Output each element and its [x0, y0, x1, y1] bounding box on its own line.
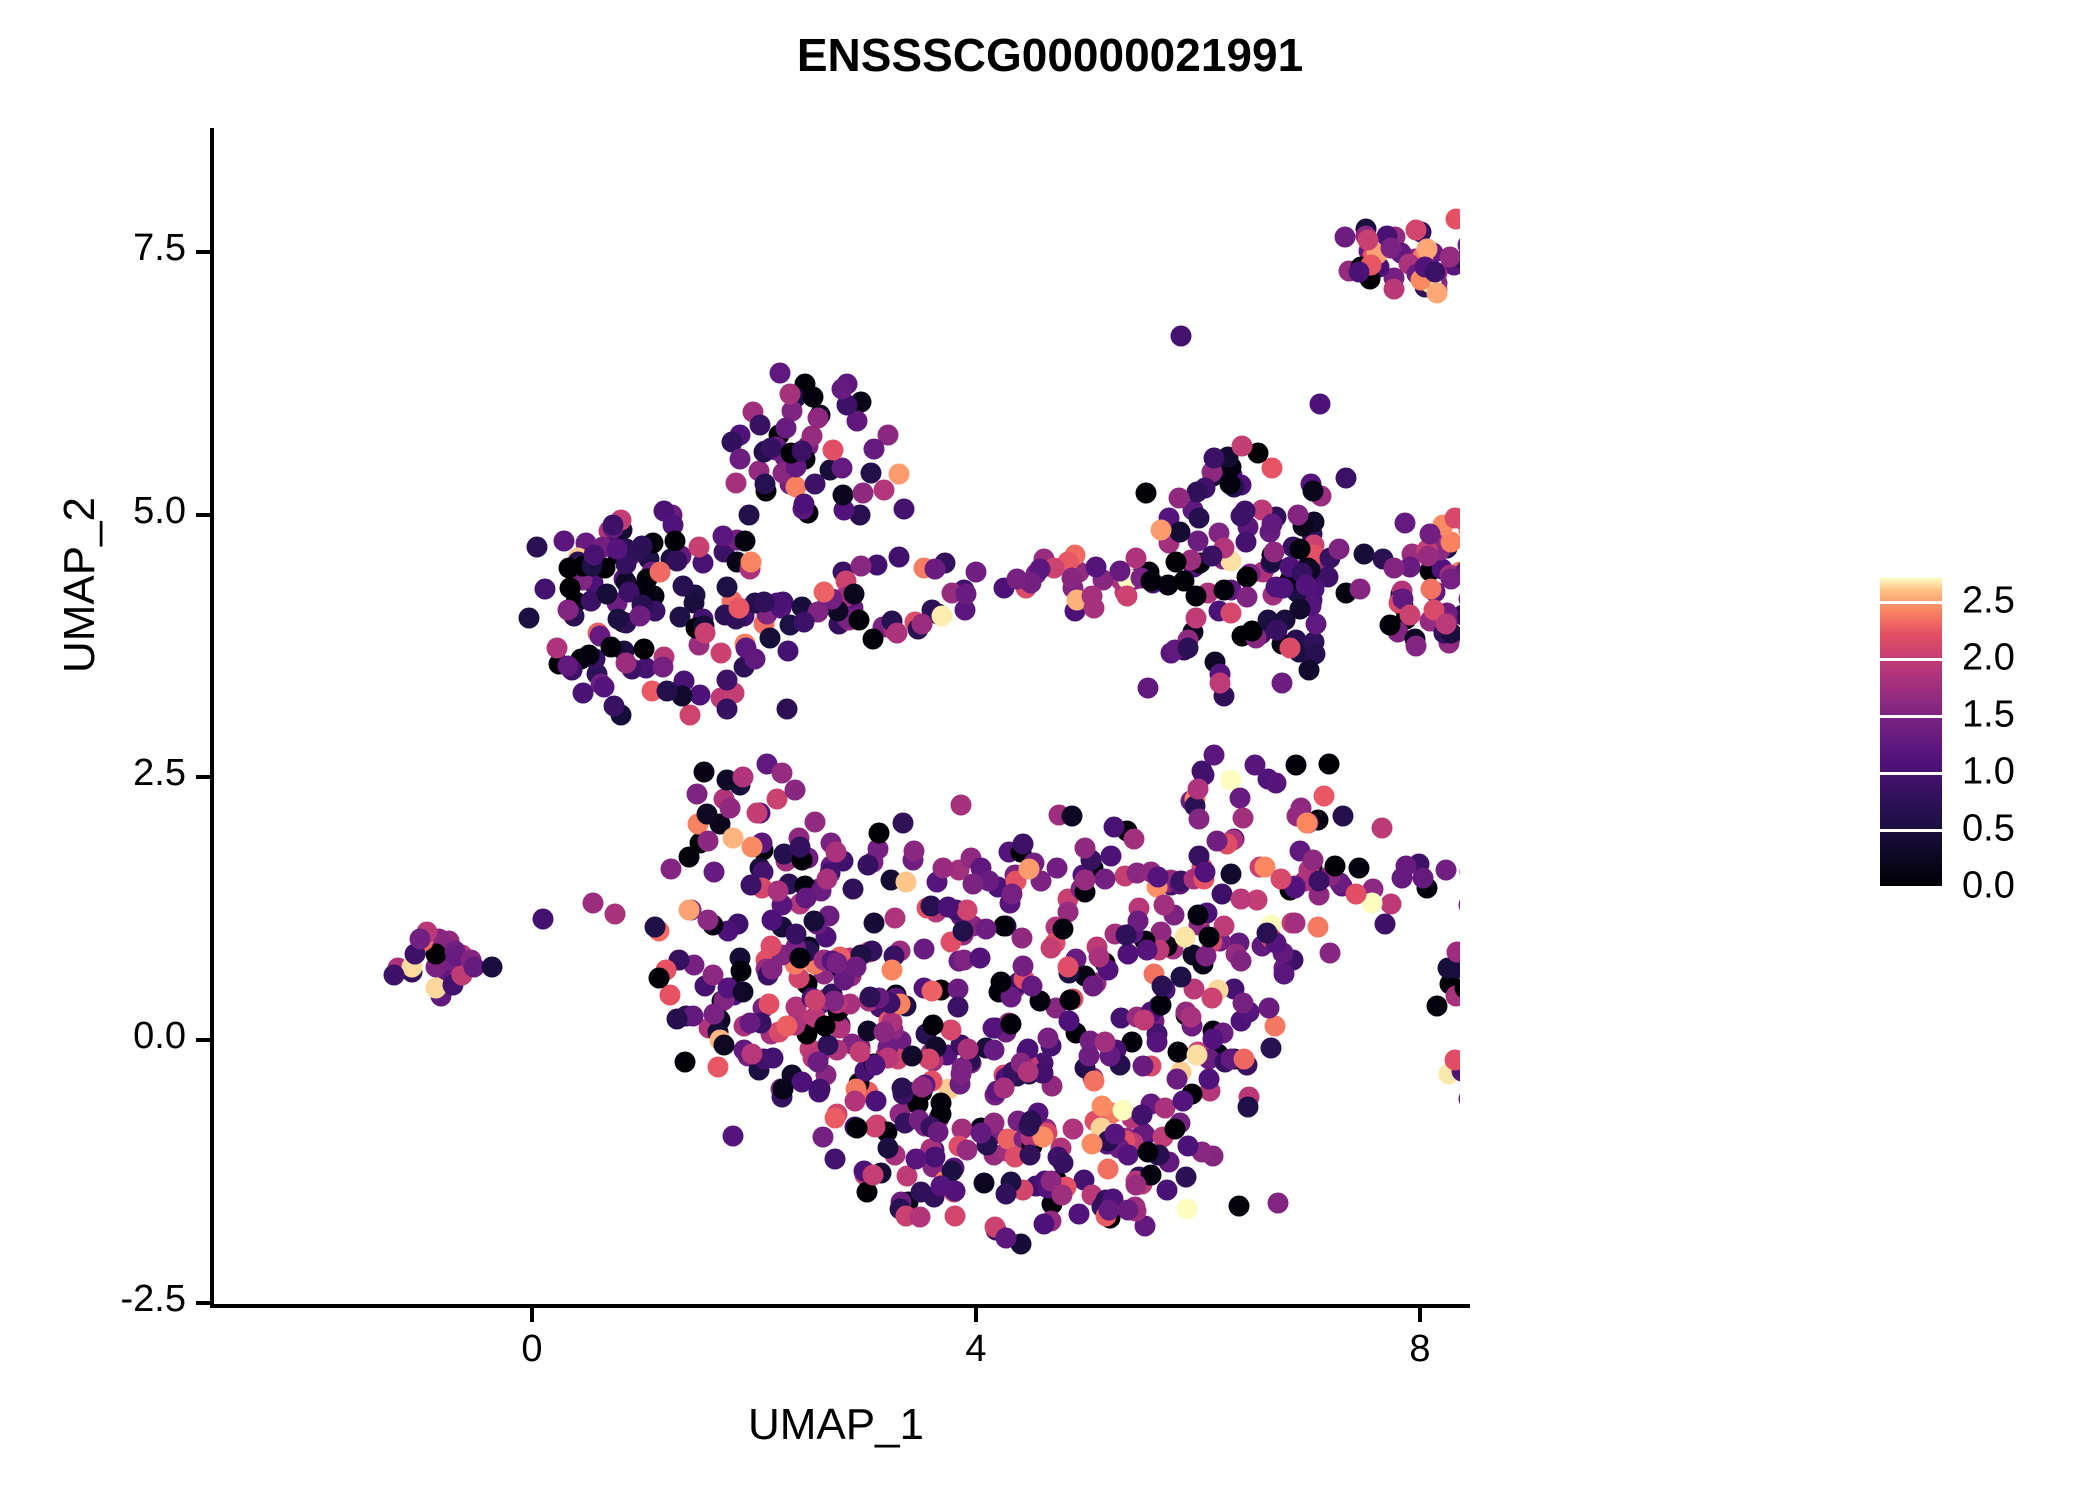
- x-axis-title: UMAP_1: [212, 1400, 1460, 1450]
- scatter-point: [853, 482, 874, 503]
- y-tick-mark: [196, 1301, 210, 1305]
- scatter-point: [1175, 927, 1196, 948]
- scatter-point: [882, 959, 903, 980]
- scatter-point: [1210, 672, 1231, 693]
- scatter-point: [891, 1077, 912, 1098]
- scatter-point: [931, 1175, 952, 1196]
- scatter-point: [1237, 586, 1258, 607]
- scatter-point: [1169, 522, 1190, 543]
- scatter-point: [1022, 976, 1043, 997]
- scatter-point: [1287, 504, 1308, 525]
- scatter-point: [1384, 278, 1405, 299]
- scatter-point: [583, 893, 604, 914]
- scatter-point: [1445, 208, 1460, 229]
- scatter-point: [1085, 556, 1106, 577]
- scatter-point: [848, 609, 869, 630]
- scatter-point: [1290, 598, 1311, 619]
- scatter-point: [660, 859, 681, 880]
- scatter-point: [572, 682, 593, 703]
- scatter-point: [796, 887, 817, 908]
- y-tick-label: 7.5: [26, 227, 186, 270]
- scatter-point: [861, 462, 882, 483]
- scatter-point: [1150, 519, 1171, 540]
- scatter-point: [698, 830, 719, 851]
- legend-tick-mark: [1880, 886, 1942, 889]
- scatter-point: [605, 903, 626, 924]
- scatter-point: [650, 562, 671, 583]
- scatter-point: [1394, 513, 1415, 534]
- scatter-point: [1279, 637, 1300, 658]
- scatter-point: [1302, 849, 1323, 870]
- scatter-point: [845, 1090, 866, 1111]
- legend-tick-label: 1.0: [1962, 750, 2015, 793]
- scatter-point: [1236, 531, 1257, 552]
- scatter-point: [1400, 605, 1421, 626]
- scatter-point: [863, 1165, 884, 1186]
- scatter-point: [1233, 807, 1254, 828]
- scatter-point: [1284, 912, 1305, 933]
- scatter-point: [1380, 893, 1401, 914]
- scatter-point: [579, 645, 600, 666]
- scatter-point: [962, 874, 983, 895]
- scatter-point: [1168, 488, 1189, 509]
- scatter-point: [594, 676, 615, 697]
- scatter-point: [1303, 480, 1324, 501]
- scatter-point: [1198, 927, 1219, 948]
- scatter-point: [1060, 989, 1081, 1010]
- scatter-point: [1328, 538, 1349, 559]
- scatter-point: [896, 871, 917, 892]
- plot-panel: [212, 130, 1460, 1306]
- scatter-point: [1094, 1031, 1115, 1052]
- scatter-point: [608, 609, 629, 630]
- scatter-point: [1266, 773, 1287, 794]
- scatter-point: [1178, 1135, 1199, 1156]
- scatter-point: [409, 928, 430, 949]
- scatter-point: [1245, 754, 1266, 775]
- scatter-point: [957, 1139, 978, 1160]
- scatter-point: [644, 916, 665, 937]
- scatter-point: [695, 623, 716, 644]
- scatter-point: [703, 1004, 724, 1025]
- scatter-point: [1098, 1199, 1119, 1220]
- scatter-point: [1445, 1050, 1460, 1071]
- scatter-point: [674, 1052, 695, 1073]
- scatter-point: [846, 956, 867, 977]
- scatter-point: [1017, 1061, 1038, 1082]
- scatter-point: [1189, 508, 1210, 529]
- scatter-point: [1195, 861, 1216, 882]
- scatter-point: [816, 869, 837, 890]
- scatter-point: [925, 559, 946, 580]
- scatter-point: [1116, 925, 1137, 946]
- scatter-point: [864, 913, 885, 934]
- scatter-point: [1199, 1069, 1220, 1090]
- scatter-point: [951, 1064, 972, 1085]
- scatter-point: [735, 531, 756, 552]
- scatter-point: [1381, 237, 1402, 258]
- scatter-point: [824, 990, 845, 1011]
- scatter-point: [888, 464, 909, 485]
- scatter-point: [807, 1051, 828, 1072]
- scatter-point: [1260, 1038, 1281, 1059]
- legend-tick-label: 0.0: [1962, 865, 2015, 908]
- scatter-point: [383, 965, 404, 986]
- scatter-point: [1333, 806, 1354, 827]
- legend-tick-mark: [1880, 658, 1942, 661]
- scatter-point: [833, 484, 854, 505]
- scatter-point: [723, 827, 744, 848]
- scatter-point: [732, 982, 753, 1003]
- scatter-point: [534, 579, 555, 600]
- scatter-point: [1171, 326, 1192, 347]
- scatter-point: [1229, 1195, 1250, 1216]
- scatter-point: [1233, 1049, 1254, 1070]
- scatter-point: [1001, 883, 1022, 904]
- scatter-point: [1285, 755, 1306, 776]
- scatter-point: [630, 605, 651, 626]
- scatter-point: [863, 439, 884, 460]
- y-axis-title: UMAP_2: [55, 185, 105, 985]
- scatter-point: [716, 699, 737, 720]
- scatter-point: [717, 576, 738, 597]
- scatter-point: [1221, 864, 1242, 885]
- scatter-point: [886, 623, 907, 644]
- scatter-point: [825, 842, 846, 863]
- scatter-point: [1445, 507, 1460, 528]
- scatter-point: [1233, 993, 1254, 1014]
- scatter-point: [1186, 607, 1207, 628]
- scatter-point: [1176, 1199, 1197, 1220]
- scatter-point: [1379, 614, 1400, 635]
- scatter-point: [995, 1227, 1016, 1248]
- scatter-point: [1232, 435, 1253, 456]
- legend-colorbar: [1880, 578, 1942, 886]
- scatter-point: [1349, 262, 1370, 283]
- scatter-point: [1264, 1015, 1285, 1036]
- scatter-point: [805, 473, 826, 494]
- scatter-point: [1298, 659, 1319, 680]
- scatter-point: [832, 378, 853, 399]
- scatter-point: [615, 653, 636, 674]
- scatter-point: [866, 1090, 887, 1111]
- scatter-point: [1357, 230, 1378, 251]
- scatter-point: [1207, 831, 1228, 852]
- scatter-point: [1033, 1214, 1054, 1235]
- scatter-point: [1383, 557, 1404, 578]
- scatter-point: [1195, 946, 1216, 967]
- x-tick-label: 8: [1360, 1328, 1480, 1371]
- scatter-point: [1104, 816, 1125, 837]
- scatter-point: [740, 1012, 761, 1033]
- scatter-point: [1262, 513, 1283, 534]
- scatter-point: [1290, 539, 1311, 560]
- scatter-point: [843, 879, 864, 900]
- scatter-point: [698, 909, 719, 930]
- scatter-point: [1057, 957, 1078, 978]
- scatter-point: [1447, 941, 1461, 962]
- scatter-point: [815, 1016, 836, 1037]
- scatter-point: [874, 1021, 895, 1042]
- scatter-point: [1256, 922, 1277, 943]
- scatter-point: [995, 1183, 1016, 1204]
- scatter-point: [1307, 916, 1328, 937]
- scatter-point: [927, 1121, 948, 1142]
- scatter-point: [863, 628, 884, 649]
- scatter-point: [1346, 884, 1367, 905]
- scatter-point: [1231, 951, 1252, 972]
- scatter-point: [1131, 1104, 1152, 1125]
- scatter-point: [519, 608, 540, 629]
- scatter-point: [1335, 468, 1356, 489]
- scatter-point: [973, 1172, 994, 1193]
- scatter-point: [679, 704, 700, 725]
- scatter-point: [1263, 541, 1284, 562]
- scatter-point: [993, 1078, 1014, 1099]
- scatter-point: [1094, 868, 1115, 889]
- color-legend: 2.52.01.51.00.50.0: [1880, 578, 2080, 918]
- scatter-point: [1082, 1133, 1103, 1154]
- scatter-point: [1354, 543, 1375, 564]
- scatter-point: [717, 670, 738, 691]
- scatter-point: [785, 924, 806, 945]
- scatter-point: [762, 1048, 783, 1069]
- scatter-point: [1412, 868, 1433, 889]
- scatter-point: [1157, 1180, 1178, 1201]
- scatter-point: [794, 612, 815, 633]
- scatter-point: [950, 794, 971, 815]
- scatter-point: [776, 1015, 797, 1036]
- scatter-point: [742, 1044, 763, 1065]
- scatter-point: [1266, 576, 1287, 597]
- scatter-point: [1188, 778, 1209, 799]
- legend-tick-label: 1.5: [1962, 693, 2015, 736]
- scatter-point: [1175, 1166, 1196, 1187]
- scatter-point: [955, 583, 976, 604]
- scatter-point: [1167, 1042, 1188, 1063]
- scatter-point: [745, 648, 766, 669]
- scatter-point: [665, 531, 686, 552]
- scatter-point: [634, 639, 655, 660]
- scatter-point: [1203, 1028, 1224, 1049]
- scatter-point: [557, 600, 578, 621]
- scatter-point: [1204, 745, 1225, 766]
- scatter-point: [1000, 1013, 1021, 1034]
- scatter-point: [768, 880, 789, 901]
- scatter-point: [1013, 955, 1034, 976]
- scatter-point: [849, 1042, 870, 1063]
- scatter-point: [1231, 506, 1252, 527]
- scatter-point: [603, 696, 624, 717]
- scatter-point: [527, 536, 548, 557]
- scatter-point: [1091, 1095, 1112, 1116]
- scatter-point: [1319, 754, 1340, 775]
- scatter-point: [824, 1108, 845, 1129]
- scatter-point: [827, 953, 848, 974]
- y-tick-label: 2.5: [26, 752, 186, 795]
- scatter-point: [761, 936, 782, 957]
- scatter-point: [1231, 889, 1252, 910]
- scatter-point: [1202, 987, 1223, 1008]
- scatter-point: [893, 813, 914, 834]
- scatter-point: [747, 803, 768, 824]
- scatter-point: [754, 473, 775, 494]
- scatter-point: [689, 684, 710, 705]
- scatter-point: [971, 1122, 992, 1143]
- scatter-point: [773, 1079, 794, 1100]
- scatter-point: [1040, 938, 1061, 959]
- scatter-point: [631, 535, 652, 556]
- scatter-point: [924, 1146, 945, 1167]
- scatter-point: [1459, 862, 1460, 883]
- scatter-point: [1406, 219, 1427, 240]
- scatter-point: [1006, 569, 1027, 590]
- scatter-point: [860, 987, 881, 1008]
- x-tick-mark: [974, 1308, 978, 1322]
- scatter-point: [893, 499, 914, 520]
- scatter-point: [482, 956, 503, 977]
- scatter-point: [994, 915, 1015, 936]
- scatter-point: [1100, 845, 1121, 866]
- scatter-point: [1152, 976, 1173, 997]
- scatter-point: [1019, 858, 1040, 879]
- scatter-point: [804, 989, 825, 1010]
- scatter-point: [713, 525, 734, 546]
- scatter-point: [1440, 569, 1460, 590]
- scatter-point: [553, 530, 574, 551]
- scatter-point: [1177, 638, 1198, 659]
- scatter-point: [1458, 1089, 1460, 1110]
- scatter-point: [932, 857, 953, 878]
- scatter-point: [803, 910, 824, 931]
- scatter-point: [1135, 482, 1156, 503]
- y-tick-mark: [196, 1038, 210, 1042]
- scatter-point: [1435, 614, 1456, 635]
- y-axis-line: [210, 128, 214, 1308]
- scatter-point: [1350, 578, 1371, 599]
- scatter-point: [1124, 829, 1145, 850]
- scatter-point: [750, 415, 771, 436]
- scatter-point: [1186, 1045, 1207, 1066]
- scatter-point: [725, 473, 746, 494]
- scatter-point: [1116, 586, 1137, 607]
- y-tick-mark: [196, 775, 210, 779]
- scatter-point: [1053, 919, 1074, 940]
- scatter-point: [1305, 613, 1326, 634]
- scatter-point: [687, 784, 708, 805]
- scatter-point: [912, 614, 933, 635]
- scatter-point: [923, 1014, 944, 1035]
- scatter-point: [975, 919, 996, 940]
- scatter-point: [753, 591, 774, 612]
- scatter-point: [741, 875, 762, 896]
- legend-tick-mark: [1880, 772, 1942, 775]
- scatter-point: [1266, 620, 1287, 641]
- x-tick-label: 0: [472, 1328, 592, 1371]
- scatter-point: [689, 536, 710, 557]
- scatter-point: [1147, 866, 1168, 887]
- scatter-point: [1075, 870, 1096, 891]
- scatter-point: [1187, 482, 1208, 503]
- scatter-point: [730, 448, 751, 469]
- scatter-point: [843, 583, 864, 604]
- scatter-point: [1270, 869, 1291, 890]
- scatter-point: [803, 386, 824, 407]
- y-tick-label: -2.5: [26, 1278, 186, 1321]
- scatter-point: [775, 417, 796, 438]
- scatter-point: [912, 1076, 933, 1097]
- scatter-point: [1335, 226, 1356, 247]
- scatter-point: [913, 938, 934, 959]
- scatter-point: [1348, 858, 1369, 879]
- scatter-point: [722, 1125, 743, 1146]
- scatter-point: [903, 841, 924, 862]
- scatter-point: [1203, 447, 1224, 468]
- scatter-point: [1075, 837, 1096, 858]
- scatter-point: [1134, 1009, 1155, 1030]
- scatter-point: [761, 909, 782, 930]
- scatter-point: [922, 981, 943, 1002]
- scatter-point: [667, 1008, 688, 1029]
- scatter-point: [869, 823, 890, 844]
- scatter-point: [1237, 566, 1258, 587]
- scatter-point: [1268, 1193, 1289, 1214]
- scatter-point: [1137, 939, 1158, 960]
- scatter-point: [584, 544, 605, 565]
- scatter-point: [809, 1079, 830, 1100]
- y-tick-label: 0.0: [26, 1015, 186, 1058]
- scatter-point: [1058, 1011, 1079, 1032]
- scatter-point: [1165, 552, 1186, 573]
- scatter-point: [703, 862, 724, 883]
- scatter-points-layer: [212, 130, 1460, 1306]
- scatter-point: [1132, 1055, 1153, 1076]
- scatter-point: [1436, 859, 1457, 880]
- scatter-point: [672, 575, 693, 596]
- scatter-point: [910, 1206, 931, 1227]
- scatter-point: [656, 680, 677, 701]
- scatter-point: [902, 1046, 923, 1067]
- scatter-point: [1020, 1144, 1041, 1165]
- scatter-point: [760, 437, 781, 458]
- scatter-point: [769, 362, 790, 383]
- scatter-point: [1319, 943, 1340, 964]
- scatter-point: [1146, 1031, 1167, 1052]
- scatter-point: [1375, 913, 1396, 934]
- scatter-point: [1295, 575, 1316, 596]
- scatter-point: [1259, 997, 1280, 1018]
- scatter-point: [952, 921, 973, 942]
- scatter-point: [1371, 817, 1392, 838]
- scatter-point: [814, 581, 835, 602]
- scatter-point: [596, 583, 617, 604]
- scatter-point: [1125, 1174, 1146, 1195]
- scatter-point: [1089, 947, 1110, 968]
- umap-feature-plot: ENSSSCG00000021991 -2.50.02.55.07.5 048 …: [0, 0, 2100, 1500]
- scatter-point: [888, 546, 909, 567]
- scatter-point: [1081, 585, 1102, 606]
- scatter-point: [824, 1148, 845, 1169]
- scatter-point: [791, 441, 812, 462]
- legend-tick-mark: [1880, 715, 1942, 718]
- scatter-point: [847, 1118, 868, 1139]
- scatter-point: [1137, 1141, 1158, 1162]
- scatter-point: [1083, 1070, 1104, 1091]
- scatter-point: [1309, 871, 1330, 892]
- scatter-point: [957, 1039, 978, 1060]
- scatter-point: [1187, 904, 1208, 925]
- scatter-point: [732, 767, 753, 788]
